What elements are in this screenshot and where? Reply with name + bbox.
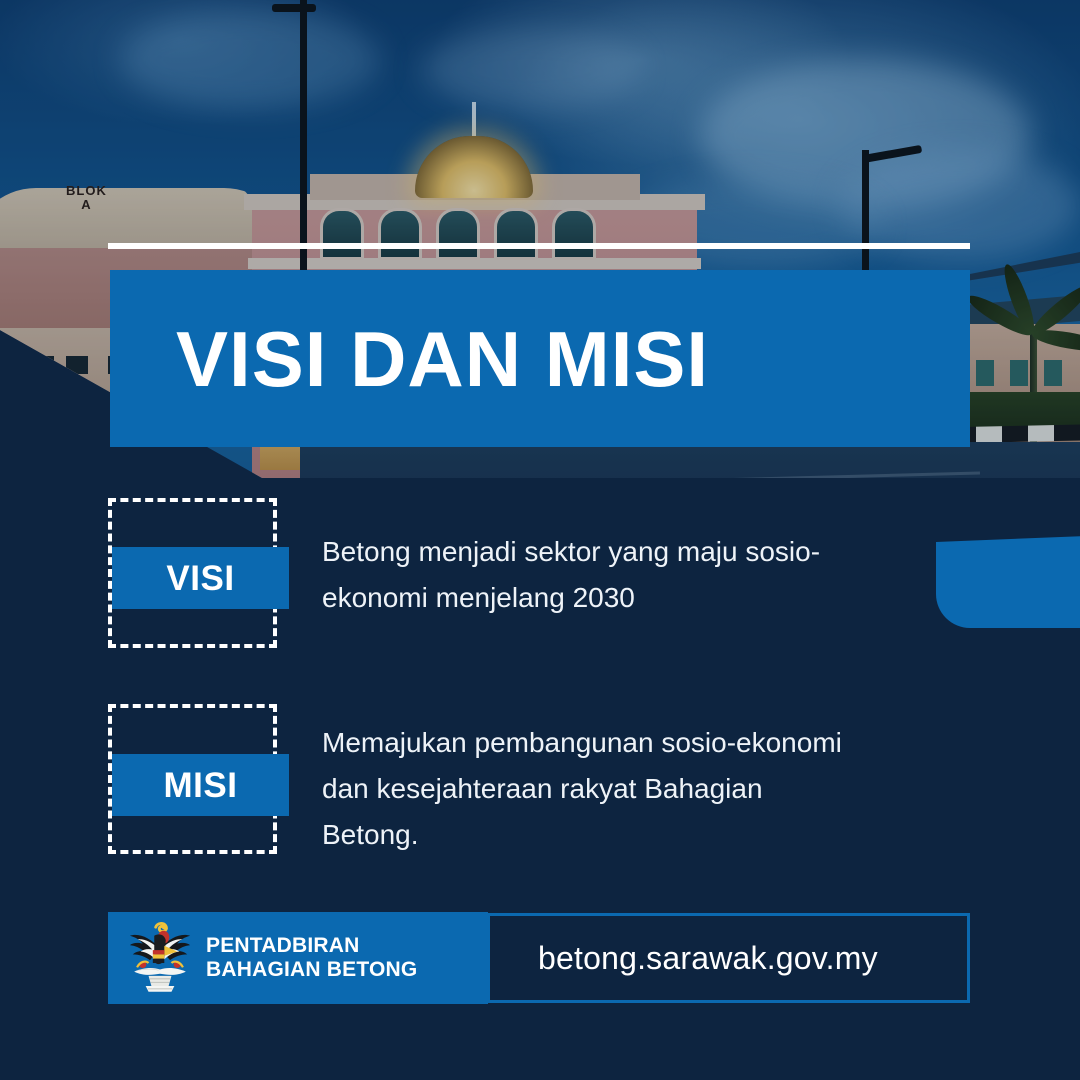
- website-url[interactable]: betong.sarawak.gov.my: [538, 940, 878, 977]
- misi-tag-fill: MISI: [112, 754, 289, 816]
- footer-brand-block: PENTADBIRAN BAHAGIAN BETONG: [108, 912, 488, 1004]
- window: [0, 356, 20, 374]
- org-line-2: BAHAGIAN BETONG: [206, 958, 417, 981]
- window: [32, 356, 54, 374]
- page-title: VISI DAN MISI: [176, 320, 709, 398]
- section-visi: VISI Betong menjadi sektor yang maju sos…: [108, 498, 862, 648]
- right-accent-shape: [936, 536, 1080, 628]
- title-rule: [108, 243, 970, 249]
- sarawak-coat-of-arms-icon: [124, 920, 196, 996]
- misi-tag-box: MISI: [108, 704, 277, 854]
- visi-tag-label: VISI: [166, 561, 234, 596]
- visi-description: Betong menjadi sektor yang maju sosio-ek…: [322, 529, 862, 621]
- footer-bar: PENTADBIRAN BAHAGIAN BETONG betong.saraw…: [108, 912, 970, 1004]
- visi-tag-box: VISI: [108, 498, 277, 648]
- website-url-box[interactable]: betong.sarawak.gov.my: [487, 913, 970, 1003]
- poster-root: BLOK A: [0, 0, 1080, 1080]
- title-banner: VISI DAN MISI: [110, 270, 970, 447]
- section-misi: MISI Memajukan pembangunan sosio-ekonomi…: [108, 704, 862, 858]
- misi-description: Memajukan pembangunan sosio-ekonomi dan …: [322, 720, 862, 858]
- organisation-name: PENTADBIRAN BAHAGIAN BETONG: [206, 934, 417, 982]
- org-line-1: PENTADBIRAN: [206, 934, 359, 957]
- visi-tag-fill: VISI: [112, 547, 289, 609]
- misi-tag-label: MISI: [164, 768, 238, 803]
